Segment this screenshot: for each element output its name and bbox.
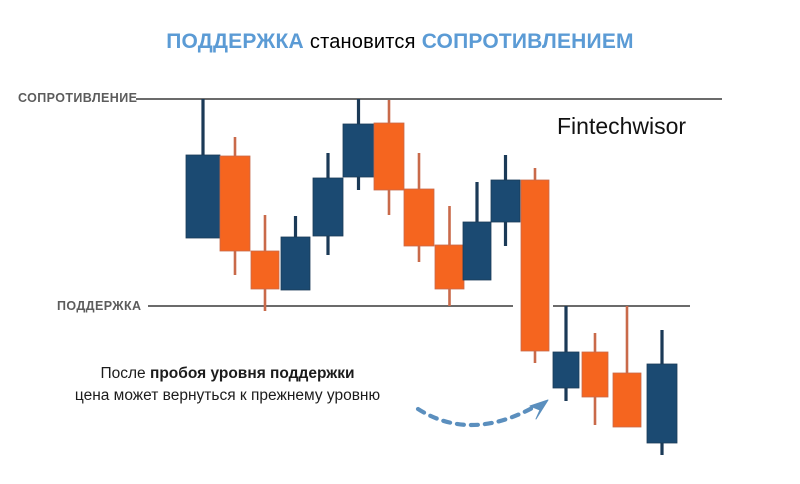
candle-2-bearish	[220, 137, 250, 275]
candle-5-body	[313, 178, 343, 236]
candle-15-body	[613, 373, 641, 427]
candle-2-body	[220, 156, 250, 251]
candle-16-body	[647, 364, 677, 443]
candle-10-body	[463, 222, 491, 280]
price-chart-canvas	[0, 0, 800, 484]
candlesticks-layer	[186, 99, 677, 455]
candle-10-bullish	[463, 182, 491, 280]
candle-12-body	[521, 180, 549, 351]
candle-7-bearish	[374, 100, 404, 215]
candle-3-body	[251, 251, 279, 289]
candle-14-bearish	[582, 333, 608, 425]
retest-arrow-curve	[418, 407, 534, 425]
candle-4-body	[281, 237, 310, 290]
candle-7-body	[374, 123, 404, 190]
retest-arrow	[418, 400, 548, 425]
candle-14-body	[582, 352, 608, 397]
candle-1-body	[186, 155, 220, 238]
candle-3-bearish	[251, 215, 279, 311]
candle-15-bearish	[613, 306, 641, 427]
candle-13-body	[553, 352, 579, 388]
candle-6-bullish	[343, 99, 374, 190]
candle-13-bullish	[553, 306, 579, 401]
candle-16-bullish	[647, 330, 677, 455]
candle-1-bullish	[186, 99, 220, 238]
candlestick-diagram: ПОДДЕРЖКА становится СОПРОТИВЛЕНИЕМ СОПР…	[0, 0, 800, 484]
candle-8-body	[404, 189, 434, 246]
candle-11-body	[491, 180, 520, 222]
candle-6-body	[343, 124, 374, 177]
candle-9-body	[435, 245, 464, 289]
candle-11-bullish	[491, 155, 520, 246]
candle-9-bearish	[435, 206, 464, 306]
candle-4-bullish	[281, 216, 310, 290]
candle-5-bullish	[313, 153, 343, 255]
candle-12-bearish	[521, 168, 549, 363]
candle-8-bearish	[404, 153, 434, 262]
